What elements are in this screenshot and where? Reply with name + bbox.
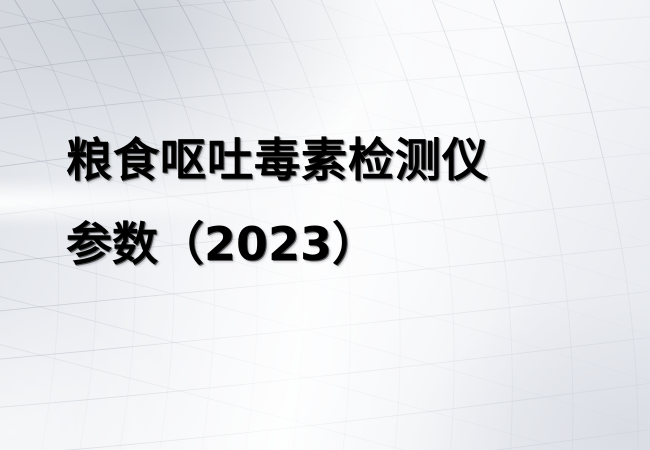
- title-line-secondary: 参数（2023）: [66, 202, 626, 286]
- page-title: 粮食呕吐毒素检测仪 参数（2023）: [66, 118, 626, 286]
- title-line-primary: 粮食呕吐毒素检测仪: [66, 118, 626, 202]
- banner-image: 粮食呕吐毒素检测仪 参数（2023）: [0, 0, 650, 450]
